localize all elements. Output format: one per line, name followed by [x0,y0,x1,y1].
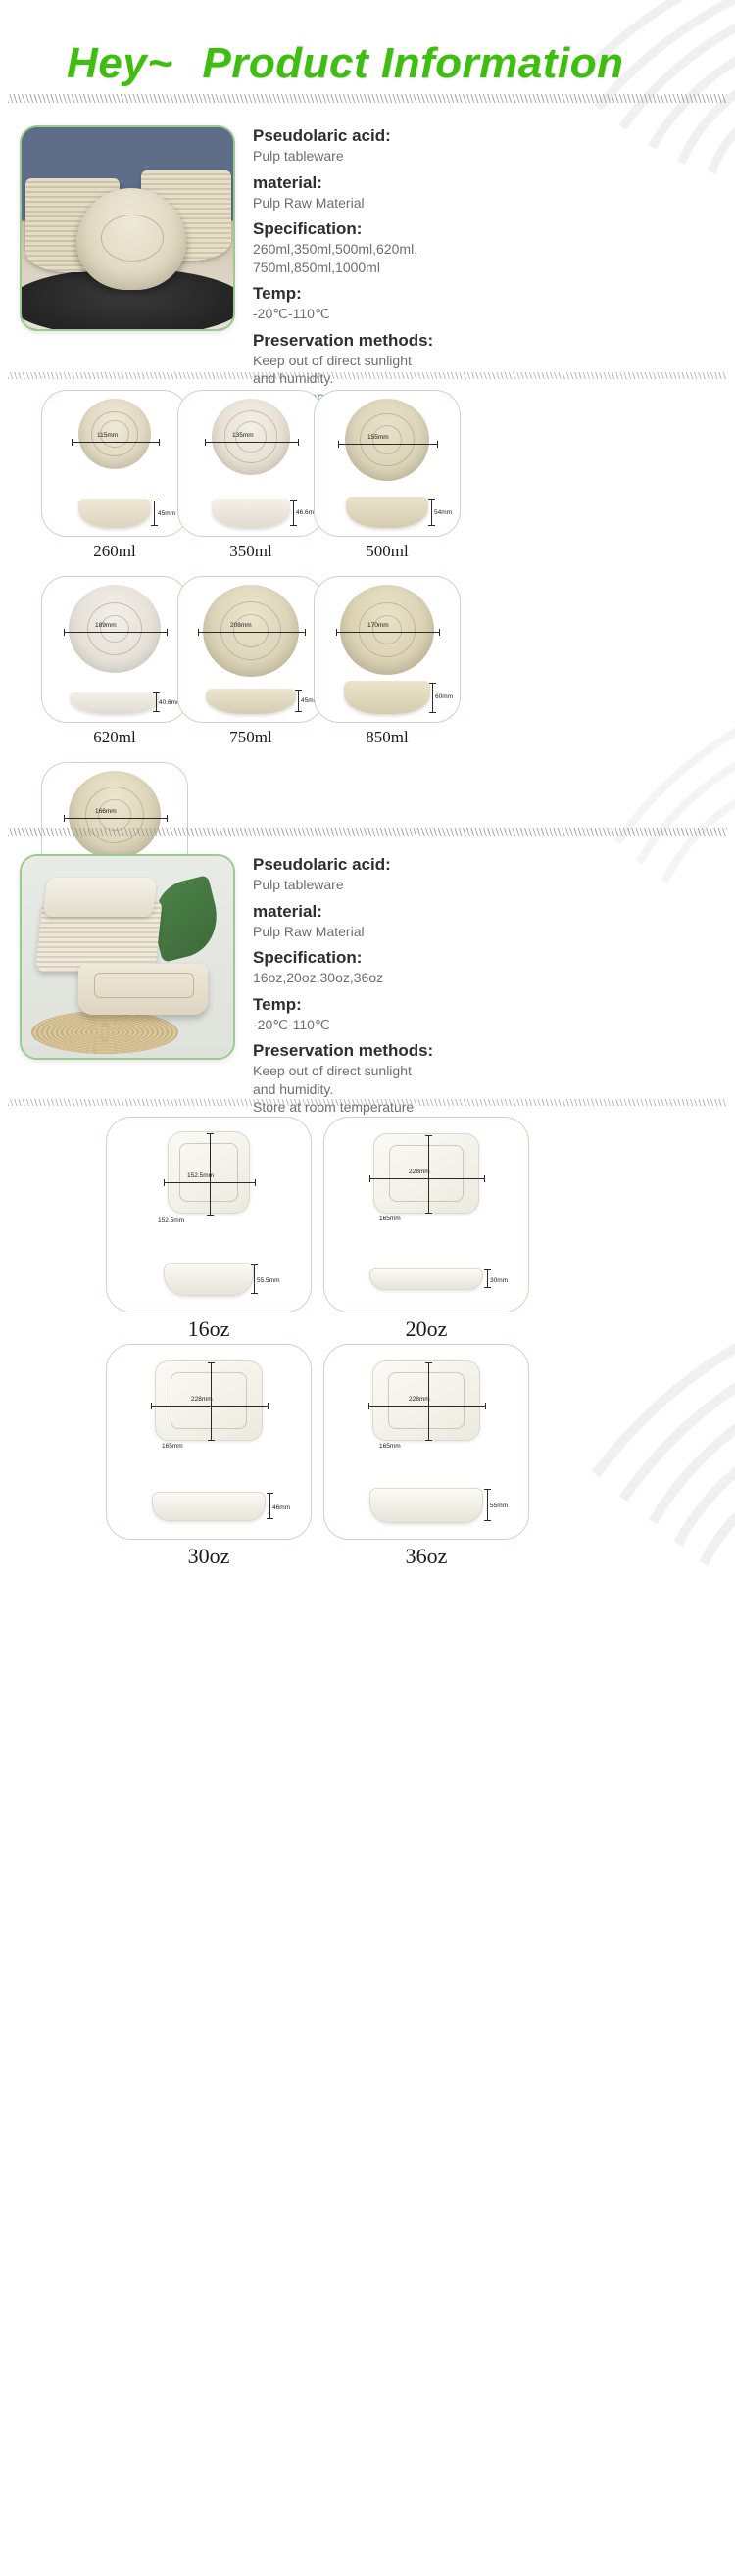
bowl-side-view [78,499,151,528]
tray-side-view [369,1268,483,1290]
height-dimension-line [293,500,294,526]
photo-bowl-front [76,188,186,290]
bowls-material-value: Pulp Raw Material [253,194,713,212]
tray-side-view [369,1488,483,1523]
tray-side-view [164,1263,254,1296]
diameter-value: 135mm [232,432,254,439]
size-card-20oz[interactable]: 228mm 165mm 30mm 20oz [323,1117,529,1342]
size-card-750ml[interactable]: 208mm 45mm 750ml [177,576,324,747]
header-title-text: Product Information [202,39,623,87]
photo-rope-mat [31,1011,178,1054]
page-title: Hey~Product Information [67,39,623,88]
height-value: 55mm [490,1503,508,1509]
width-value: 228mm [409,1396,430,1403]
width-dimension-line [368,1406,486,1407]
height-value: 46mm [272,1504,290,1511]
depth-value: 165mm [379,1443,401,1450]
height-value: 30mm [490,1277,508,1284]
diameter-dimension-line [205,442,299,443]
bowls-spec-value-line2: 750ml,850ml,1000ml [253,259,713,276]
bowl-side-view [346,497,428,528]
diameter-dimension-line [336,632,440,633]
trays-preservation-line2: and humidity. [253,1080,713,1098]
bowl-ring-inner [233,614,268,647]
product-information-page: Hey~Product Information Pseudolaric acid… [0,0,735,2576]
height-dimension-line [269,1493,270,1519]
diameter-dimension-line [64,818,168,819]
size-card-figure: 170mm 60mm [314,576,461,723]
size-card-620ml[interactable]: 189mm 40.6mm 620ml [41,576,188,747]
depth-dimension-line [210,1133,211,1216]
bowls-name-label: Pseudolaric acid: [253,125,713,147]
diameter-value: 208mm [230,622,252,629]
trays-spec-text: Pseudolaric acid: Pulp tableware materia… [253,854,713,1117]
bowls-preservation-label: Preservation methods: [253,330,713,352]
trays-spec-label: Specification: [253,947,713,969]
trays-preservation-label: Preservation methods: [253,1040,713,1062]
divider-hatch-top [8,94,727,103]
width-value: 228mm [409,1169,430,1175]
size-card-500ml[interactable]: 155mm 54mm 500ml [314,390,461,561]
depth-dimension-line [211,1362,212,1441]
bowl-side-view [206,689,296,714]
size-card-figure: 152.5mm 152.5mm 55.5mm [106,1117,312,1312]
trays-name-value: Pulp tableware [253,876,713,893]
photo-tray-lid [43,878,157,917]
size-card-label: 30oz [106,1544,312,1569]
trays-hero-photo [20,854,235,1060]
height-dimension-line [156,692,157,712]
bowls-temp-label: Temp: [253,283,713,305]
photo-tray-front [78,964,208,1015]
diameter-dimension-line [72,442,160,443]
size-card-label: 850ml [314,728,461,747]
size-card-figure: 115mm 45mm [41,390,188,537]
diameter-value: 189mm [95,622,117,629]
divider-hatch-mid [8,828,727,836]
size-card-label: 16oz [106,1316,312,1342]
diameter-dimension-line [64,632,168,633]
height-dimension-line [298,690,299,712]
size-card-850ml[interactable]: 170mm 60mm 850ml [314,576,461,747]
trays-material-label: material: [253,901,713,923]
width-dimension-line [151,1406,269,1407]
size-card-36oz[interactable]: 228mm 165mm 55mm 36oz [323,1344,529,1569]
diameter-value: 166mm [95,808,117,815]
bowl-side-view [70,692,160,714]
bowl-top-view [340,585,434,675]
bowls-spec-label: Specification: [253,218,713,240]
size-card-figure: 155mm 54mm [314,390,461,537]
size-card-figure: 228mm 165mm 46mm [106,1344,312,1540]
height-dimension-line [154,501,155,526]
bowls-spec-value-line1: 260ml,350ml,500ml,620ml, [253,240,713,258]
bowls-name-value: Pulp tableware [253,147,713,165]
size-card-label: 350ml [177,542,324,561]
trays-temp-value: -20℃-110℃ [253,1016,713,1033]
height-dimension-line [487,1489,488,1521]
height-value: 55.5mm [257,1277,279,1284]
diameter-value: 170mm [367,622,389,629]
height-value: 45mm [158,510,175,517]
bowls-preservation-line1: Keep out of direct sunlight [253,352,713,369]
height-dimension-line [432,683,433,713]
trays-material-value: Pulp Raw Material [253,923,713,940]
tray-side-view [152,1492,266,1521]
trays-preservation-line1: Keep out of direct sunlight [253,1062,713,1079]
bowls-hero-photo [20,125,235,331]
size-card-260ml[interactable]: 115mm 45mm 260ml [41,390,188,561]
diameter-dimension-line [198,632,306,633]
width-value: 228mm [191,1396,213,1403]
width-dimension-line [369,1178,485,1179]
trays-temp-label: Temp: [253,994,713,1016]
size-card-30oz[interactable]: 228mm 165mm 46mm 30oz [106,1344,312,1569]
size-card-label: 20oz [323,1316,529,1342]
bowl-ring-inner [372,615,403,644]
size-card-label: 620ml [41,728,188,747]
diameter-value: 155mm [367,434,389,441]
size-card-label: 750ml [177,728,324,747]
header-greeting: Hey~ [67,39,172,87]
depth-dimension-line [428,1135,429,1214]
bowls-temp-value: -20℃-110℃ [253,305,713,322]
size-card-figure: 135mm 46.6mm [177,390,324,537]
diameter-dimension-line [338,444,438,445]
bowl-side-view [344,681,430,714]
size-card-16oz[interactable]: 152.5mm 152.5mm 55.5mm 16oz [106,1117,312,1342]
bowls-spec-text: Pseudolaric acid: Pulp tableware materia… [253,125,713,405]
diameter-value: 115mm [97,432,118,439]
divider-hatch-bowls [8,372,727,379]
size-card-figure: 228mm 165mm 30mm [323,1117,529,1312]
size-card-label: 36oz [323,1544,529,1569]
bowl-top-view [69,771,161,859]
height-dimension-line [431,499,432,526]
size-card-label: 260ml [41,542,188,561]
bowl-side-view [212,499,290,528]
size-card-figure: 189mm 40.6mm [41,576,188,723]
bowl-top-view [203,585,299,677]
depth-value: 152.5mm [158,1217,184,1224]
depth-value: 165mm [162,1443,183,1450]
trays-name-label: Pseudolaric acid: [253,854,713,876]
bowl-top-view [69,585,161,673]
size-card-figure: 228mm 165mm 55mm [323,1344,529,1540]
height-dimension-line [487,1269,488,1288]
size-card-label: 500ml [314,542,461,561]
bowls-material-label: material: [253,172,713,194]
size-card-figure: 208mm 45mm [177,576,324,723]
depth-value: 165mm [379,1216,401,1222]
height-value: 54mm [434,509,452,516]
depth-dimension-line [428,1362,429,1441]
trays-spec-value-line1: 16oz,20oz,30oz,36oz [253,969,713,986]
bowl-ring-inner [98,799,131,831]
height-value: 60mm [435,693,453,700]
divider-hatch-trays [8,1099,727,1106]
size-card-350ml[interactable]: 135mm 46.6mm 350ml [177,390,324,561]
height-dimension-line [254,1264,255,1294]
